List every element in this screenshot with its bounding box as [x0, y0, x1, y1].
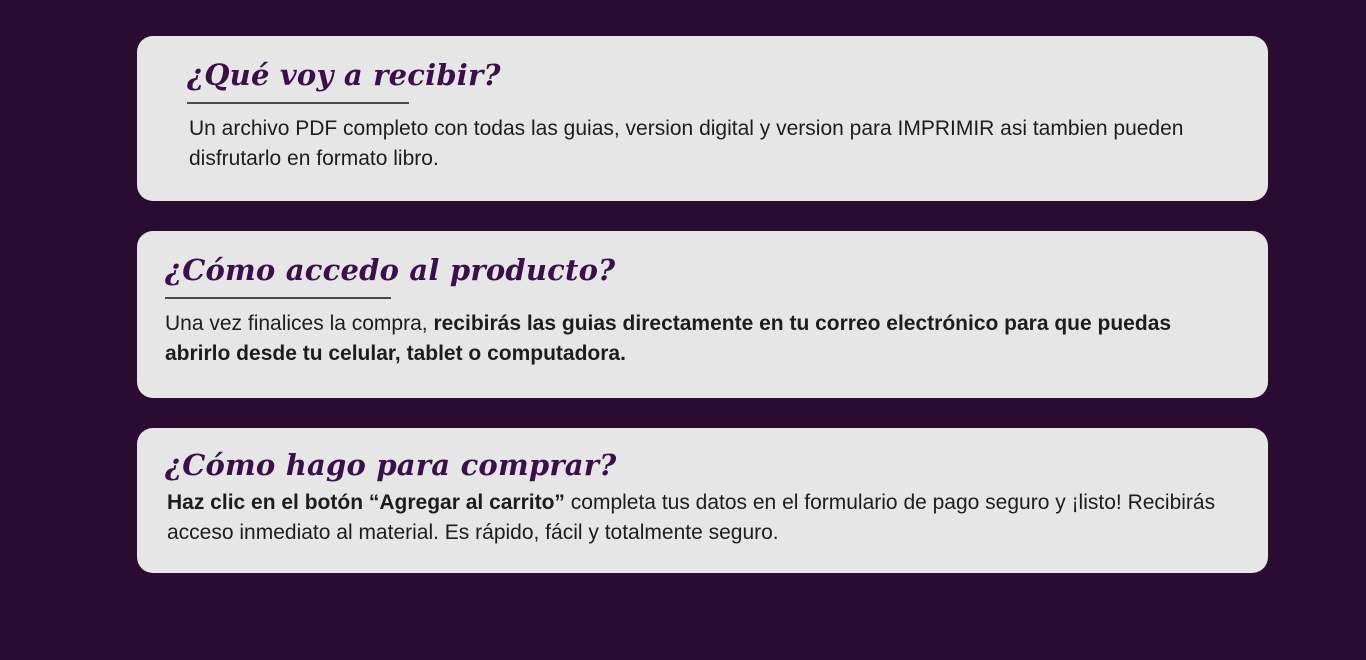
answer-text-bold: Haz clic en el botón “Agregar al carrito… [167, 491, 565, 514]
faq-question-title: ¿Cómo hago para comprar? [165, 448, 1238, 482]
faq-card: ¿Cómo accedo al producto? Una vez finali… [137, 231, 1268, 398]
faq-answer-text: Un archivo PDF completo con todas las gu… [167, 114, 1238, 175]
answer-text-plain-lead: Un archivo PDF completo con todas las gu… [189, 117, 1183, 170]
faq-question-title: ¿Cómo accedo al producto? [165, 253, 1238, 287]
faq-card: ¿Cómo hago para comprar? Haz clic en el … [137, 428, 1268, 573]
faq-card: ¿Qué voy a recibir? Un archivo PDF compl… [137, 36, 1268, 201]
title-divider [187, 102, 409, 104]
faq-list: ¿Qué voy a recibir? Un archivo PDF compl… [137, 36, 1268, 573]
answer-text-plain-lead: Una vez finalices la compra, [165, 312, 433, 335]
faq-answer-text: Una vez finalices la compra, recibirás l… [165, 309, 1238, 370]
faq-question-title: ¿Qué voy a recibir? [167, 58, 1238, 92]
faq-answer-text: Haz clic en el botón “Agregar al carrito… [165, 488, 1238, 549]
title-divider [165, 297, 391, 299]
